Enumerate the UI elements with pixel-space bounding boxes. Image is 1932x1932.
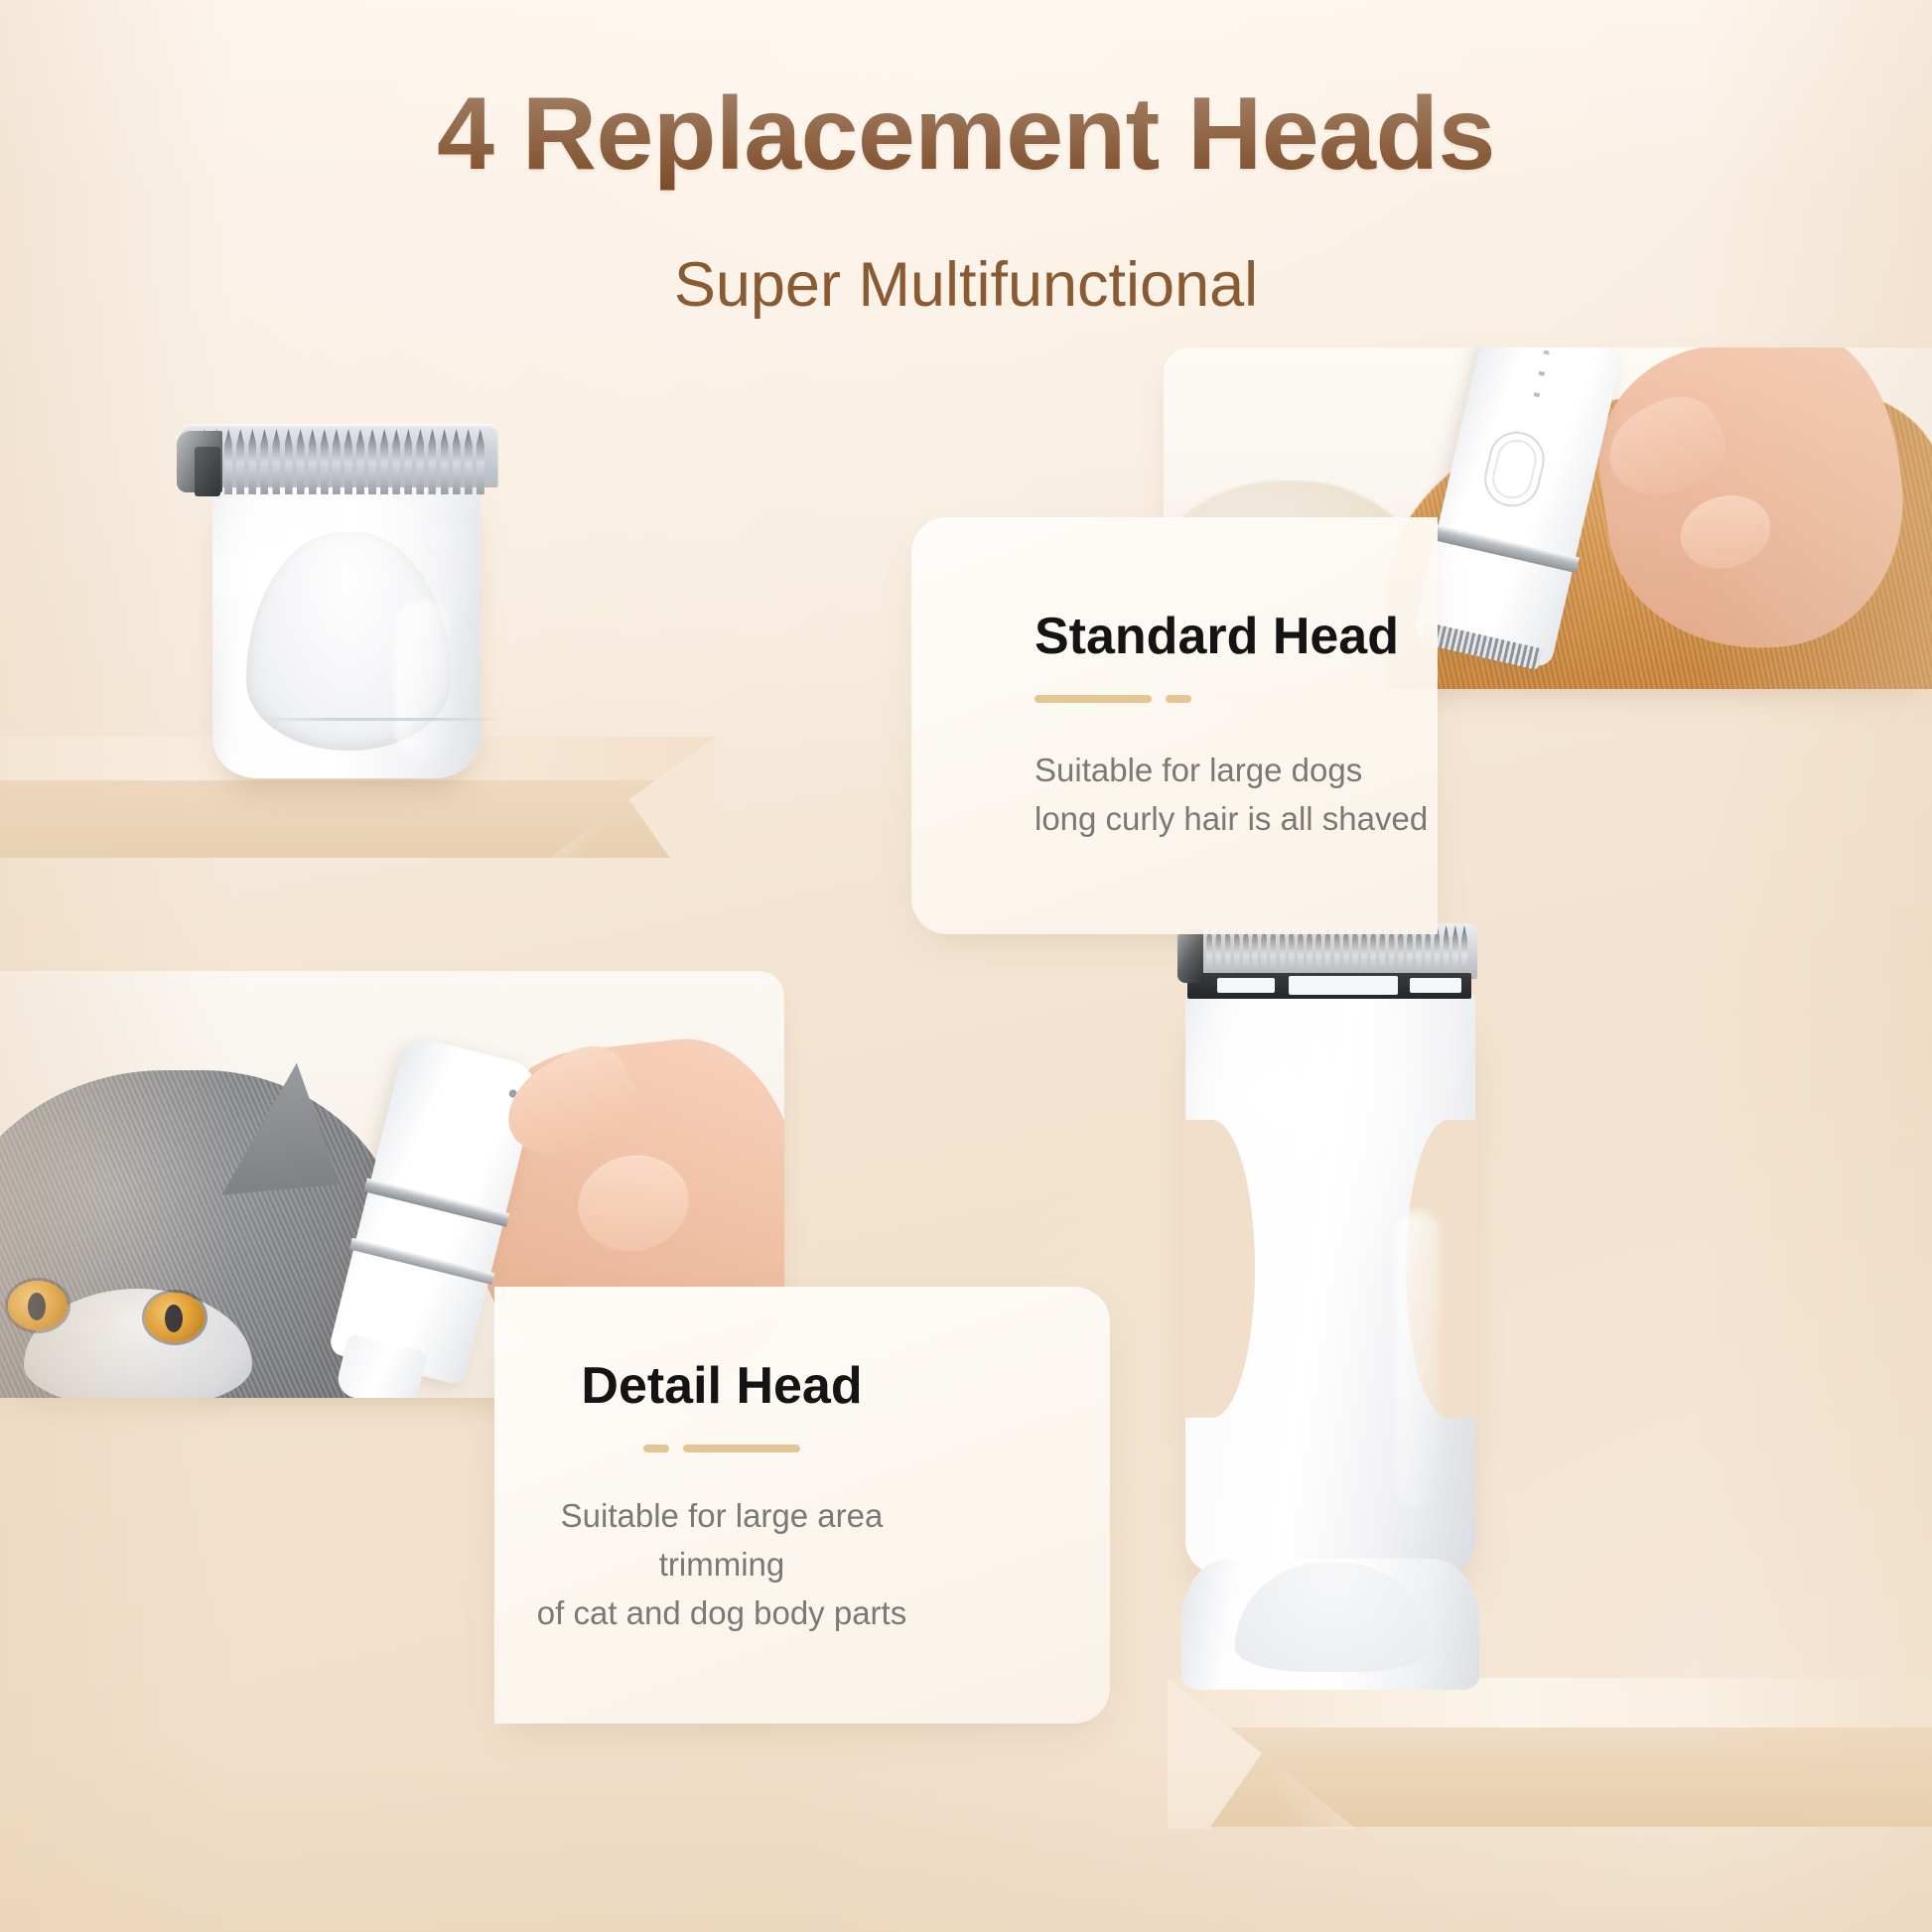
page-title: 4 Replacement Heads: [0, 77, 1932, 191]
blade-end-cap: [1177, 929, 1203, 983]
product-pedestal-bottom: [1170, 1678, 1932, 1827]
infographic-canvas: Standard Head Suitable for large dogs lo…: [0, 0, 1932, 1932]
blade-end-cap-inner: [195, 447, 220, 496]
indicator-lights: [1532, 349, 1550, 405]
cat-eye-right: [145, 1293, 205, 1342]
metal-ring: [349, 1238, 495, 1285]
divider-dash-long: [1035, 695, 1152, 703]
blade-white-bar: [1410, 978, 1461, 993]
clipper-body: [1185, 993, 1475, 1575]
blade-white-bar: [1217, 978, 1275, 993]
detail-head-product-image: [1177, 915, 1481, 1690]
divider-dash-long: [683, 1445, 800, 1452]
clipper-base: [1181, 1559, 1479, 1690]
clipper-gloss-highlight: [1396, 1211, 1440, 1509]
standard-head-card: Standard Head Suitable for large dogs lo…: [911, 517, 1438, 934]
blade-white-bar: [1289, 976, 1398, 995]
card-divider: [1035, 695, 1438, 703]
page-subtitle: Super Multifunctional: [0, 251, 1932, 320]
clipper-seam-line: [256, 718, 508, 721]
clipper-waist-left: [1183, 1120, 1255, 1418]
blade-assembly: [175, 421, 504, 500]
card-divider: [494, 1445, 1001, 1452]
blade-teeth: [201, 429, 484, 496]
card-title: Detail Head: [494, 1358, 1001, 1415]
metal-ring: [1431, 524, 1580, 573]
detail-head-card: Detail Head Suitable for large area trim…: [494, 1287, 1110, 1724]
metal-ring: [363, 1178, 509, 1227]
power-button-icon: [1479, 426, 1551, 512]
card-description: Suitable for large area trimming of cat …: [494, 1492, 1001, 1637]
card-description: Suitable for large dogs long curly hair …: [1035, 747, 1438, 844]
clipper-detail-nozzle: [334, 1333, 428, 1398]
standard-head-product-image: [175, 421, 504, 778]
clipper-gloss-highlight: [395, 600, 453, 759]
cat-eye-left: [8, 1281, 68, 1330]
divider-dash-short: [1166, 695, 1191, 703]
divider-dash-short: [643, 1445, 669, 1452]
clipper-body: [212, 483, 481, 778]
clipper-base-scoop: [1235, 1563, 1430, 1672]
card-title: Standard Head: [1035, 609, 1438, 665]
